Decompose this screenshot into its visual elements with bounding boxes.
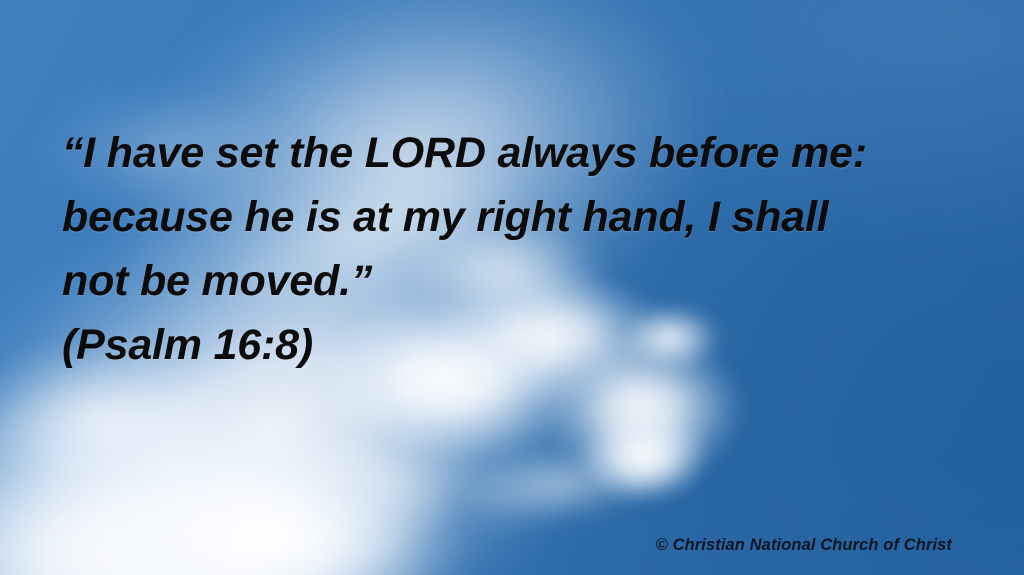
verse-line-3: not be moved.” — [62, 249, 962, 313]
verse-line-1: “I have set the LORD always before me: — [62, 121, 962, 185]
verse-text-block: “I have set the LORD always before me: b… — [62, 121, 962, 377]
copyright-notice: © Christian National Church of Christ — [0, 536, 952, 555]
verse-line-2: because he is at my right hand, I shall — [62, 185, 962, 249]
scripture-slide: “I have set the LORD always before me: b… — [0, 0, 1024, 575]
verse-reference: (Psalm 16:8) — [62, 313, 962, 377]
